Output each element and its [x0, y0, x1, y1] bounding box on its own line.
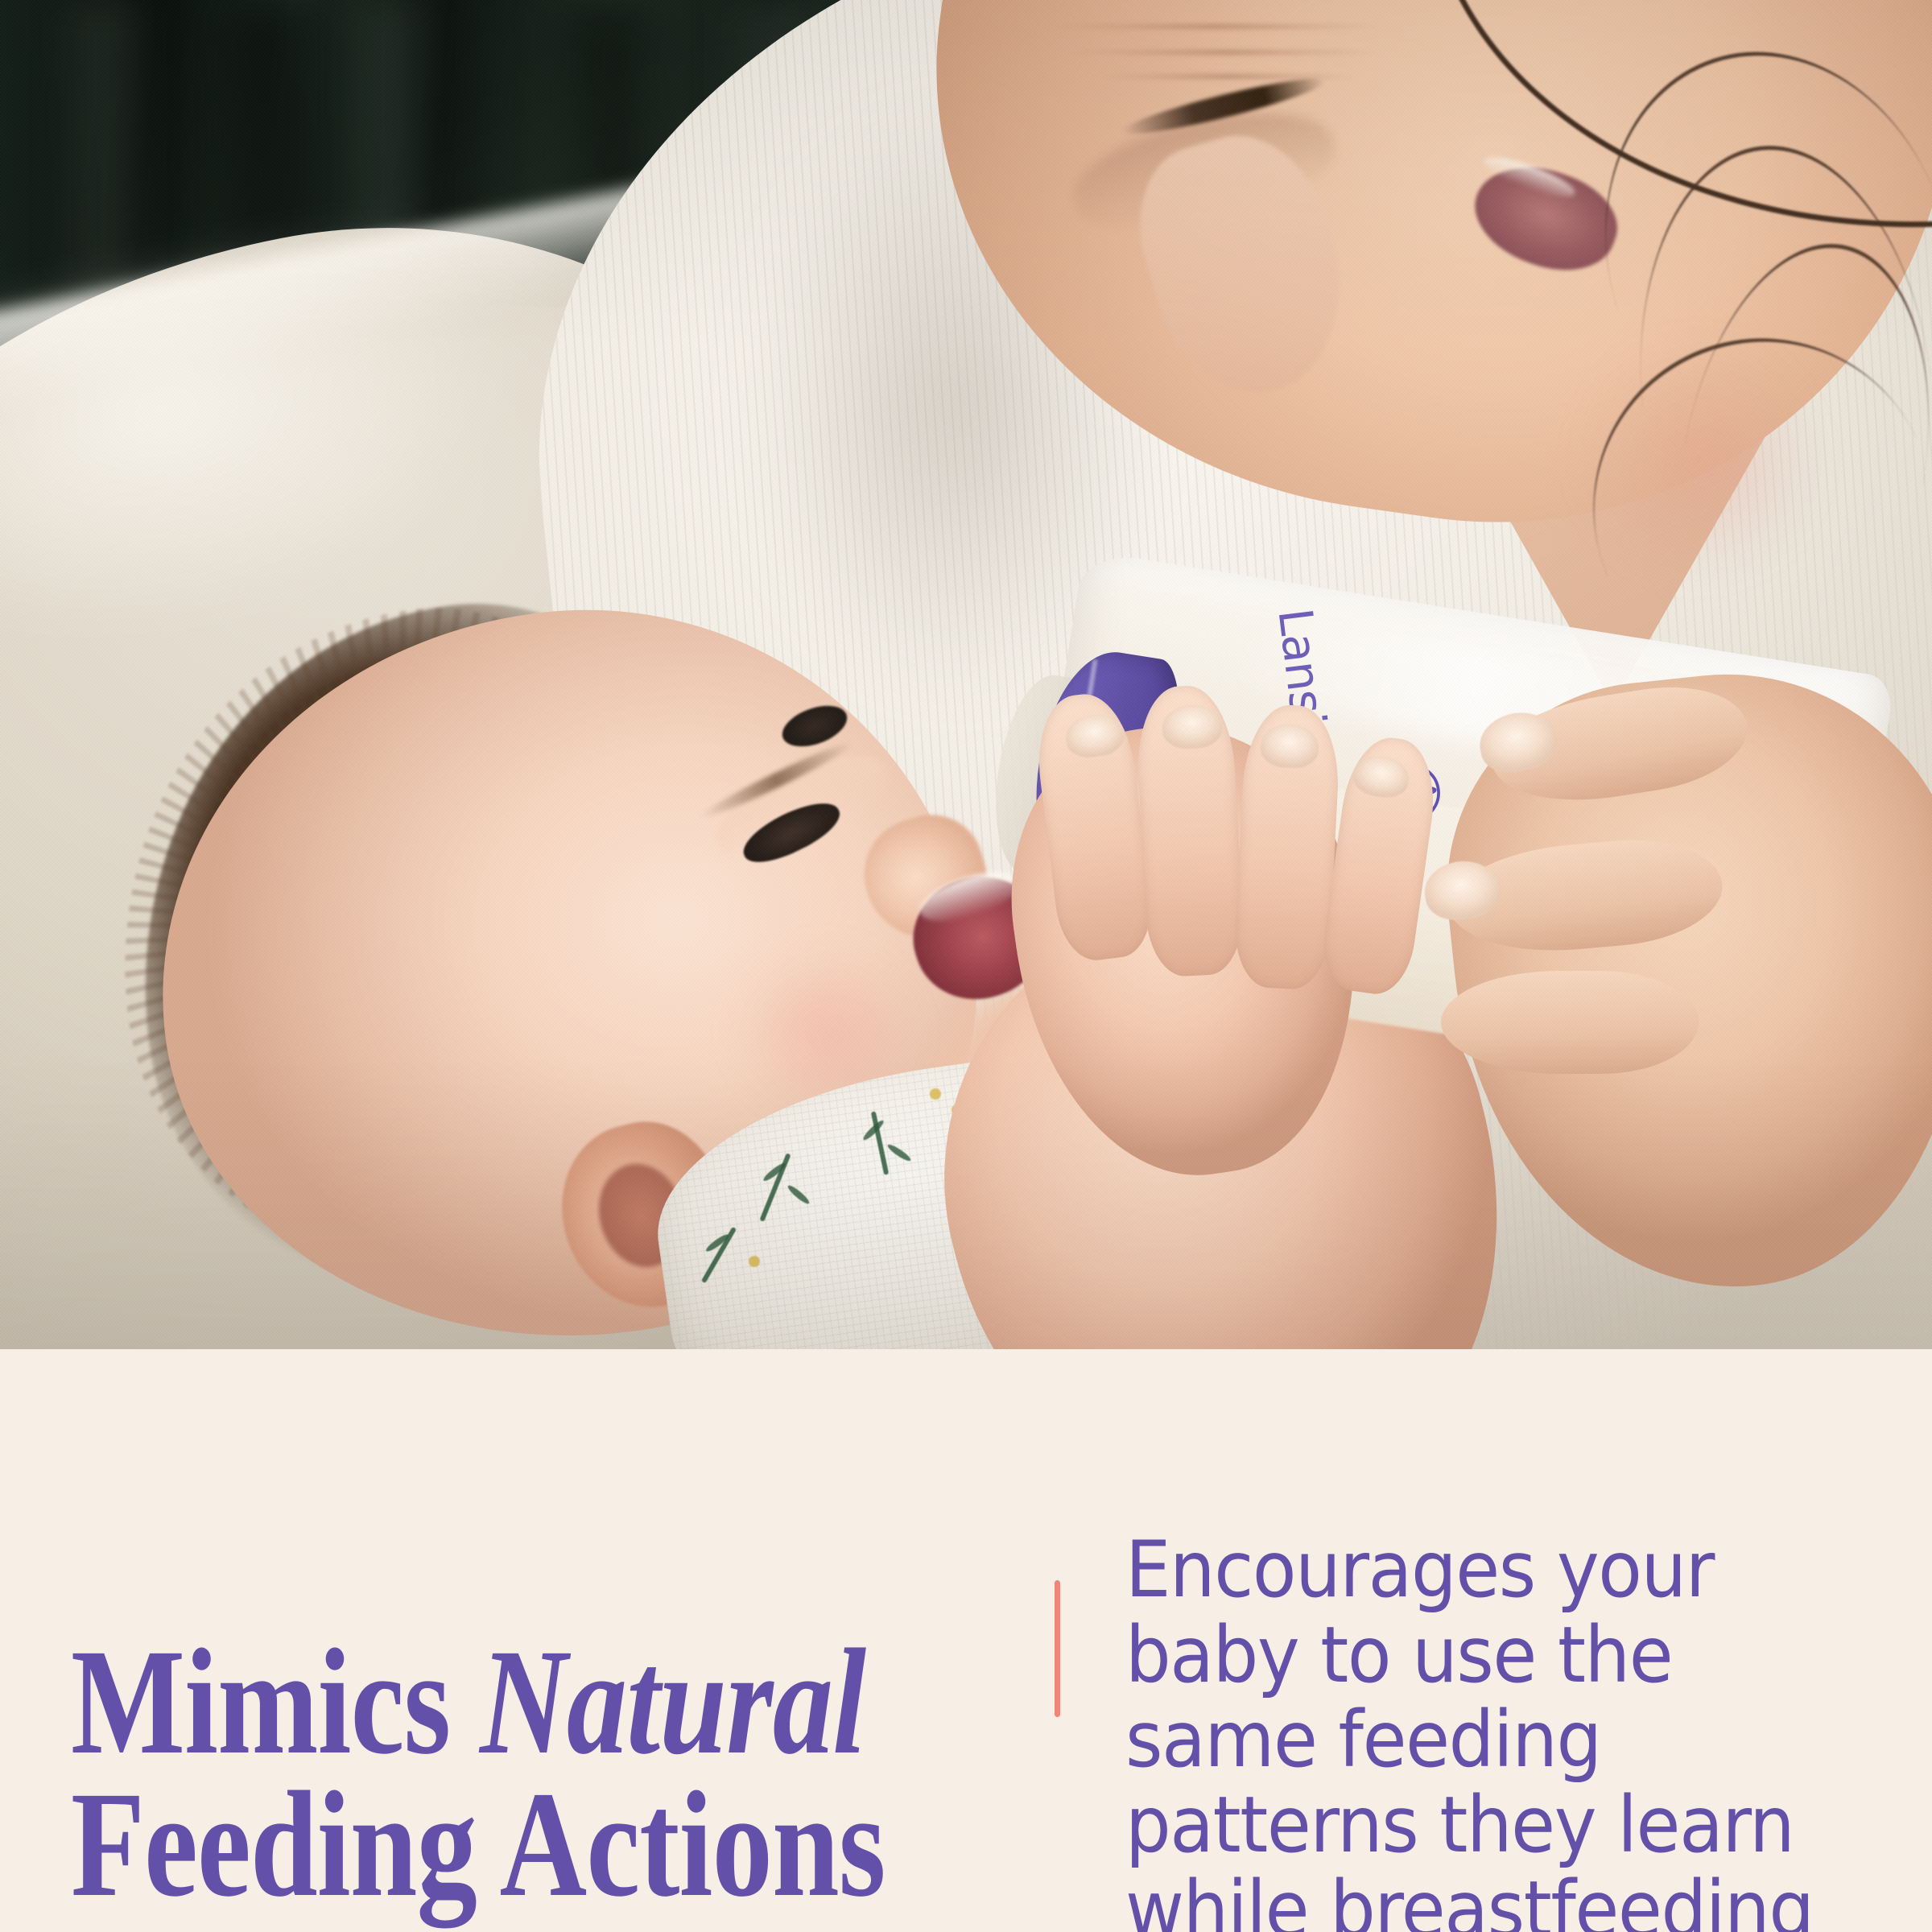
ad-canvas: Lansinoh: [0, 0, 1932, 1932]
mother-ring-finger: [1441, 971, 1699, 1074]
page-headline: Mimics NaturalFeeding Actions: [71, 1631, 831, 1915]
forehead-line: [1046, 24, 1385, 29]
product-lifestyle-photo: Lansinoh: [0, 0, 1932, 1349]
forehead-line: [1071, 50, 1377, 55]
vertical-rule-divider: [1055, 1580, 1060, 1717]
body-copy: Encourages your baby to use the same fee…: [1125, 1528, 1859, 1932]
outfit-flower-bud: [930, 1088, 941, 1100]
headline-line2: Feeding Actions: [71, 1773, 831, 1916]
outfit-flower-bud: [749, 1256, 760, 1267]
